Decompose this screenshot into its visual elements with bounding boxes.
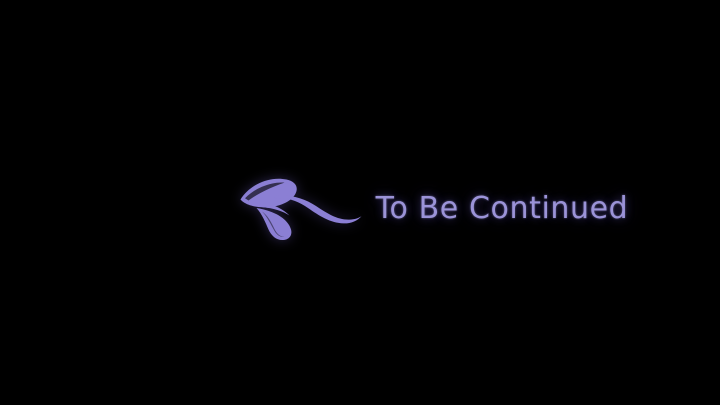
end-card-content: To Be Continued: [238, 174, 629, 244]
parrot-leaf-vine-logo-icon: [238, 174, 364, 244]
to-be-continued-text: To Be Continued: [376, 194, 629, 224]
upper-leaf-shape: [240, 178, 296, 207]
end-card-screen: To Be Continued: [0, 0, 720, 405]
to-be-continued-card: To Be Continued: [0, 0, 720, 405]
